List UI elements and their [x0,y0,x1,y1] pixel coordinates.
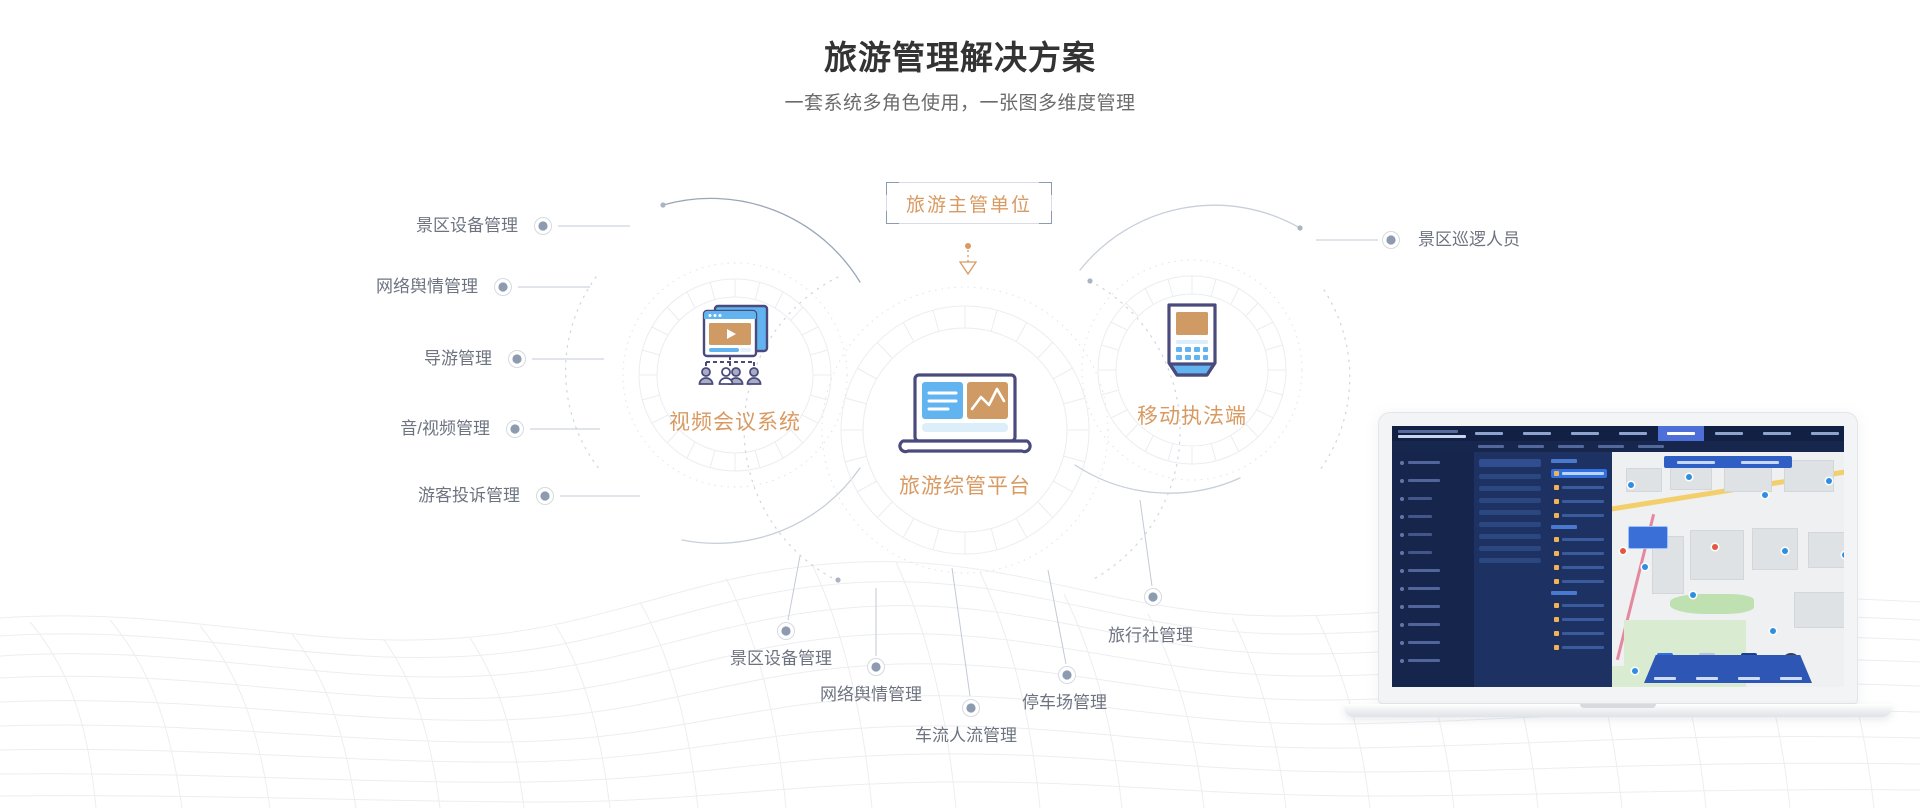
cluster-label-mobile-enforcement: 移动执法端 [1112,400,1272,430]
corner-bracket-bottom-left [886,210,900,224]
layer-item-3[interactable] [1551,497,1607,506]
region-tree-item-7[interactable] [1479,546,1541,551]
map-block-3 [1724,466,1772,492]
map-block-8 [1752,528,1798,570]
spoke-label-bottom-1[interactable]: 网络舆情管理 [820,684,1050,706]
dashboard-ui [1392,426,1844,687]
map-pin-7[interactable] [1782,548,1788,554]
box-edge-bottom [899,223,1039,224]
sidebar-item-5[interactable] [1400,530,1474,539]
map-pin-8[interactable] [1842,552,1844,558]
region-tree-item-4[interactable] [1479,510,1541,515]
video-window-icon [684,300,788,390]
box-edge-left [886,195,887,211]
sidebar-item-1[interactable] [1400,458,1474,467]
right-spoke-dots [1383,232,1400,249]
dashboard-nav[interactable] [1466,426,1844,441]
layer-item-8[interactable] [1551,577,1607,586]
map-pin-1[interactable] [1628,482,1634,488]
corner-bracket-top-right [1038,182,1052,196]
handheld-terminal-icon [1157,299,1227,395]
layer-group-label-3 [1551,591,1577,595]
sidebar-item-9[interactable] [1400,602,1474,611]
tab-chip-2[interactable] [1518,445,1544,448]
tab-chip-4[interactable] [1598,445,1624,448]
map-info-tooltip [1628,526,1668,549]
cluster-label-video-conference: 视频会议系统 [635,406,835,436]
nav-item-active[interactable] [1658,426,1704,441]
dashboard-map-canvas[interactable] [1612,452,1844,687]
box-edge-right [1051,195,1052,211]
spoke-label-left-2[interactable]: 导游管理 [262,348,492,370]
spoke-label-bottom-3[interactable]: 停车场管理 [1022,692,1252,714]
nav-item-8[interactable] [1802,426,1844,441]
layer-item-4[interactable] [1551,511,1607,520]
map-block-7 [1690,530,1744,580]
left-spoke-lines [518,226,640,496]
spoke-label-bottom-4[interactable]: 旅行社管理 [1108,625,1338,647]
laptop-screen [1392,426,1844,687]
authority-box[interactable]: 旅游主管单位 [886,182,1052,224]
dashboard-tabbar[interactable] [1392,441,1844,452]
nav-item-2[interactable] [1514,426,1560,441]
sidebar-item-3[interactable] [1400,494,1474,503]
map-pin-alert-2[interactable] [1712,544,1718,550]
laptop-notch [1580,704,1656,708]
map-pin-2[interactable] [1686,474,1692,480]
region-tree-item-6[interactable] [1479,534,1541,539]
sidebar-item-12[interactable] [1400,656,1474,665]
layer-item-12[interactable] [1551,643,1607,652]
box-edge-top [899,182,1039,183]
region-tree-item-3[interactable] [1479,498,1541,503]
map-block-11 [1794,592,1844,628]
spoke-label-bottom-0[interactable]: 景区设备管理 [730,648,960,670]
map-pin-3[interactable] [1762,492,1768,498]
laptop-dashboard-preview [1378,412,1892,717]
laptop-lid [1378,412,1858,704]
sidebar-item-11[interactable] [1400,638,1474,647]
map-pin-alert-1[interactable] [1620,548,1626,554]
map-pin-4[interactable] [1826,478,1832,484]
map-park-1 [1670,594,1754,614]
tab-chip-3[interactable] [1558,445,1584,448]
sidebar-item-8[interactable] [1400,584,1474,593]
sidebar-item-2[interactable] [1400,476,1474,485]
tab-chip-1[interactable] [1478,445,1504,448]
nav-item-6[interactable] [1706,426,1752,441]
laptop-dashboard-icon [897,373,1033,459]
nav-item-3[interactable] [1562,426,1608,441]
map-block-1 [1626,468,1662,492]
corner-bracket-bottom-right [1038,210,1052,224]
dashboard-logo [1392,426,1466,441]
dashboard-region-tree[interactable] [1474,452,1546,687]
map-dock-bar[interactable] [1644,655,1812,683]
dashboard-sidebar[interactable] [1392,452,1474,687]
sidebar-item-4[interactable] [1400,512,1474,521]
layer-item-10[interactable] [1551,615,1607,624]
layer-item-9[interactable] [1551,601,1607,610]
nav-item-4[interactable] [1610,426,1656,441]
region-tree-header [1479,459,1541,467]
spoke-label-right-0[interactable]: 景区巡逻人员 [1418,229,1648,251]
cluster-label-tourism-platform: 旅游综管平台 [865,470,1065,500]
region-tree-item-2[interactable] [1479,486,1541,491]
sidebar-item-6[interactable] [1400,548,1474,557]
map-toolbar[interactable] [1664,456,1792,468]
corner-bracket-top-left [886,182,900,196]
map-pin-10[interactable] [1770,628,1776,634]
layer-group-label-1 [1551,459,1577,463]
dashboard-layer-list[interactable] [1546,452,1612,687]
map-pin-11[interactable] [1632,668,1638,674]
layer-item-11[interactable] [1551,629,1607,638]
map-block-9 [1808,532,1844,568]
spoke-label-left-1[interactable]: 网络舆情管理 [248,276,478,298]
dashboard-topbar [1392,426,1844,441]
layer-group-label-2 [1551,525,1577,529]
nav-item-1[interactable] [1466,426,1512,441]
nav-item-7[interactable] [1754,426,1800,441]
spoke-label-left-0[interactable]: 景区设备管理 [288,215,518,237]
sidebar-item-10[interactable] [1400,620,1474,629]
authority-label: 旅游主管单位 [906,190,1032,217]
map-pin-6[interactable] [1642,564,1648,570]
spoke-label-bottom-2[interactable]: 车流人流管理 [915,725,1145,747]
authority-connector [960,243,976,274]
sidebar-item-7[interactable] [1400,566,1474,575]
spoke-label-left-4[interactable]: 游客投诉管理 [290,485,520,507]
region-tree-item-1[interactable] [1479,474,1541,479]
region-tree-item-8[interactable] [1479,558,1541,563]
spoke-label-left-3[interactable]: 音/视频管理 [260,418,490,440]
layer-item-5[interactable] [1551,535,1607,544]
left-spoke-dots [495,218,554,505]
layer-item-selected[interactable] [1551,469,1607,478]
map-pin-9[interactable] [1690,592,1696,598]
layer-item-7[interactable] [1551,563,1607,572]
page-root: 旅游管理解决方案 一套系统多角色使用，一张图多维度管理 [0,0,1920,810]
tab-chip-5[interactable] [1638,445,1664,448]
dashboard-body [1392,452,1844,687]
region-tree-item-5[interactable] [1479,522,1541,527]
laptop-base [1344,704,1892,717]
layer-item-2[interactable] [1551,483,1607,492]
layer-item-6[interactable] [1551,549,1607,558]
